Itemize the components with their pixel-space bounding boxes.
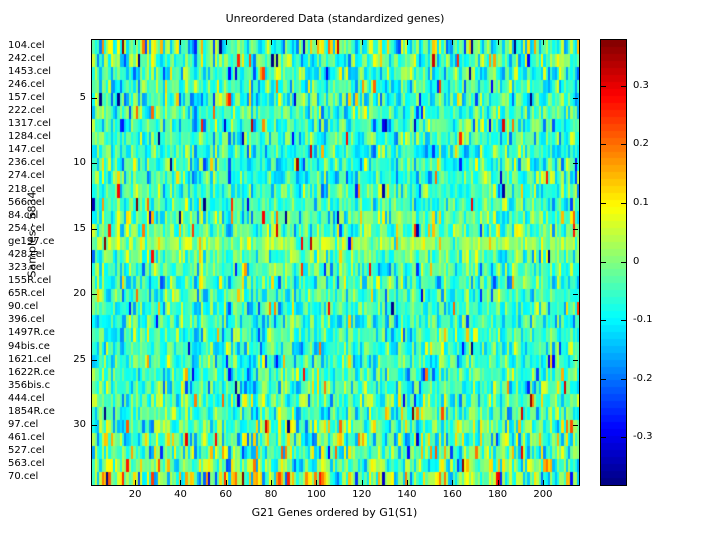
sample-label: 90.cel (8, 302, 38, 312)
y-tick-mark-right (573, 163, 578, 164)
x-tick-label: 180 (478, 489, 518, 500)
y-tick-label: 15 (46, 223, 86, 234)
sample-label: 444.cel (8, 394, 45, 404)
x-tick-mark (362, 480, 363, 485)
colorbar-tick-mark-right (621, 320, 626, 321)
heatmap-axes[interactable] (91, 39, 580, 486)
sample-label: 70.cel (8, 472, 38, 482)
colorbar-tick-mark-left (601, 379, 606, 380)
x-tick-mark-top (180, 40, 181, 45)
colorbar-tick-mark-left (601, 203, 606, 204)
x-tick-label: 20 (115, 489, 155, 500)
colorbar-tick-mark-left (601, 262, 606, 263)
colorbar-tick-label: 0.3 (633, 80, 649, 91)
sample-label: 1621.cel (8, 355, 51, 365)
sample-label: 396.cel (8, 315, 45, 325)
sample-label: 242.cel (8, 54, 45, 64)
sample-label: 236.cel (8, 158, 45, 168)
x-tick-mark-top (452, 40, 453, 45)
sample-label: 1317.cel (8, 119, 51, 129)
sample-label: 1854R.ce (8, 407, 55, 417)
colorbar[interactable] (600, 39, 627, 486)
colorbar-tick-label: 0 (633, 256, 639, 267)
y-tick-label: 25 (46, 354, 86, 365)
y-tick-label: 30 (46, 419, 86, 430)
colorbar-tick-label: -0.1 (633, 314, 653, 325)
y-tick-mark-right (573, 294, 578, 295)
x-tick-mark (452, 480, 453, 485)
x-tick-mark-top (135, 40, 136, 45)
sample-label: 1284.cel (8, 132, 51, 142)
y-tick-mark (92, 98, 97, 99)
x-tick-label: 80 (251, 489, 291, 500)
x-tick-mark (543, 480, 544, 485)
colorbar-tick-mark-left (601, 86, 606, 87)
y-tick-mark-right (573, 425, 578, 426)
x-tick-label: 100 (296, 489, 336, 500)
sample-label: 1622R.ce (8, 368, 55, 378)
sample-label: 356bis.c (8, 381, 50, 391)
x-tick-label: 40 (160, 489, 200, 500)
x-tick-mark (180, 480, 181, 485)
x-tick-mark-top (498, 40, 499, 45)
y-tick-label: 20 (46, 288, 86, 299)
heatmap-image (92, 40, 579, 485)
colorbar-tick-label: 0.2 (633, 138, 649, 149)
x-tick-mark (407, 480, 408, 485)
x-tick-label: 160 (432, 489, 472, 500)
y-tick-label: 10 (46, 157, 86, 168)
y-tick-mark-right (573, 360, 578, 361)
sample-label: 94bis.ce (8, 342, 50, 352)
x-tick-mark-top (543, 40, 544, 45)
x-axis-label: G21 Genes ordered by G1(S1) (91, 506, 578, 519)
y-tick-mark (92, 294, 97, 295)
sample-label: 157.cel (8, 93, 45, 103)
colorbar-tick-mark-left (601, 437, 606, 438)
colorbar-gradient (601, 40, 626, 485)
sample-label: 1453.cel (8, 67, 51, 77)
sample-label: 104.cel (8, 41, 45, 51)
x-tick-mark-top (407, 40, 408, 45)
figure-root: Unreordered Data (standardized genes) 10… (0, 0, 720, 540)
x-tick-mark (271, 480, 272, 485)
x-tick-label: 120 (342, 489, 382, 500)
x-tick-label: 140 (387, 489, 427, 500)
y-tick-mark-right (573, 98, 578, 99)
sample-label-list: 104.cel242.cel1453.cel246.cel157.cel222.… (8, 39, 88, 485)
sample-label: 563.cel (8, 459, 45, 469)
sample-label: 222.cel (8, 106, 45, 116)
x-tick-label: 60 (206, 489, 246, 500)
x-tick-mark (498, 480, 499, 485)
sample-label: 97.cel (8, 420, 38, 430)
sample-label: 147.cel (8, 145, 45, 155)
sample-label: 1497R.ce (8, 328, 55, 338)
x-tick-mark (316, 480, 317, 485)
colorbar-tick-label: 0.1 (633, 197, 649, 208)
colorbar-tick-mark-right (621, 437, 626, 438)
x-tick-mark-top (316, 40, 317, 45)
chart-title: Unreordered Data (standardized genes) (0, 12, 670, 25)
colorbar-tick-mark-left (601, 144, 606, 145)
colorbar-tick-mark-right (621, 86, 626, 87)
y-tick-mark (92, 360, 97, 361)
x-tick-mark-top (362, 40, 363, 45)
colorbar-tick-label: -0.2 (633, 373, 653, 384)
y-tick-mark-right (573, 229, 578, 230)
y-tick-mark (92, 425, 97, 426)
y-tick-mark (92, 163, 97, 164)
sample-label: 527.cel (8, 446, 45, 456)
x-tick-mark-top (226, 40, 227, 45)
y-axis-label: Samples - S834 (26, 175, 39, 295)
colorbar-tick-mark-right (621, 262, 626, 263)
y-tick-label: 5 (46, 92, 86, 103)
colorbar-tick-mark-left (601, 320, 606, 321)
colorbar-tick-mark-right (621, 144, 626, 145)
x-tick-mark-top (271, 40, 272, 45)
sample-label: 461.cel (8, 433, 45, 443)
y-tick-mark (92, 229, 97, 230)
colorbar-tick-mark-right (621, 379, 626, 380)
colorbar-tick-label: -0.3 (633, 431, 653, 442)
x-tick-label: 200 (523, 489, 563, 500)
colorbar-tick-mark-right (621, 203, 626, 204)
x-tick-mark (226, 480, 227, 485)
sample-label: 246.cel (8, 80, 45, 90)
x-tick-mark (135, 480, 136, 485)
